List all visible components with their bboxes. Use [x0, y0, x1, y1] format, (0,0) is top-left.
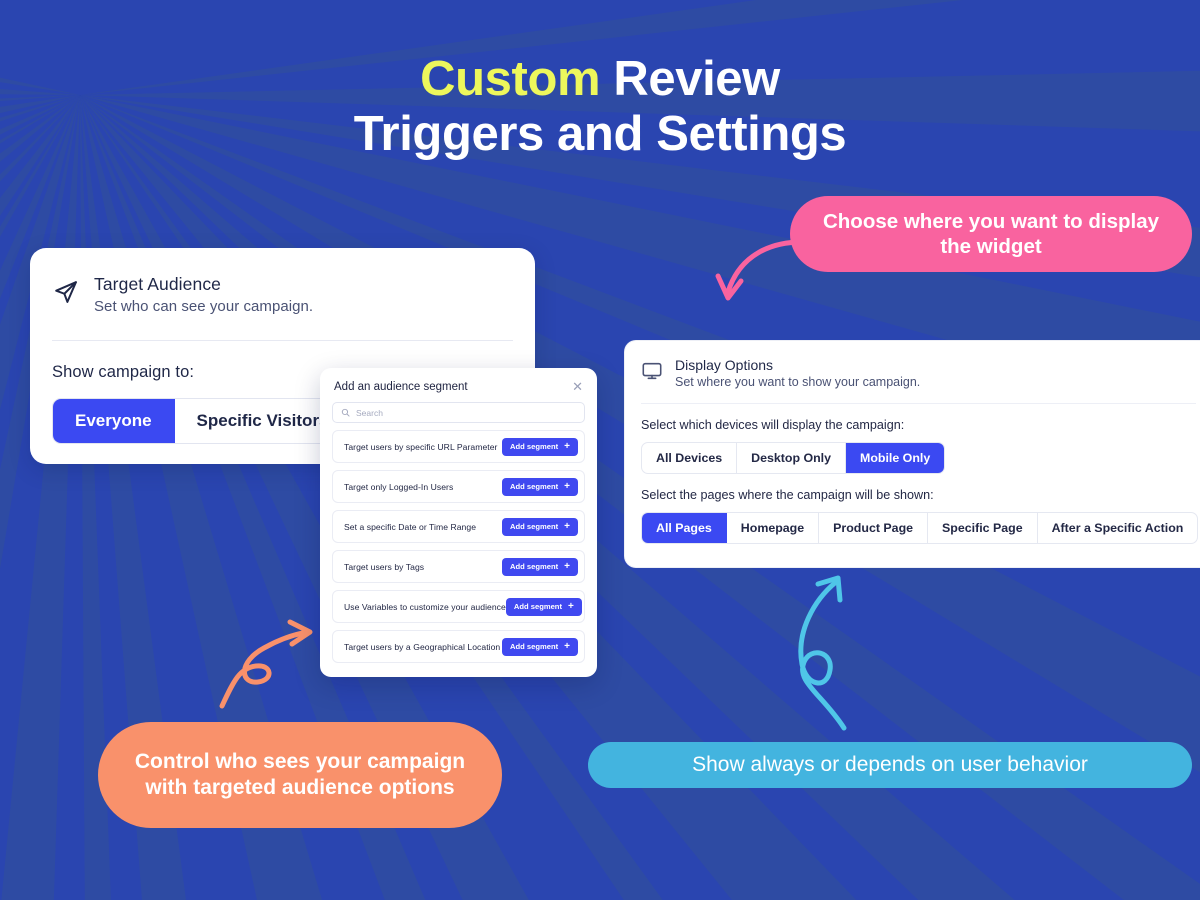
- title-line-1: Custom Review: [0, 52, 1200, 107]
- add-segment-label: Add segment: [510, 522, 558, 531]
- add-segment-button[interactable]: Add segment +: [506, 598, 582, 616]
- page-option-after-a-specific-action[interactable]: After a Specific Action: [1038, 513, 1198, 543]
- dialog-title: Add an audience segment: [334, 381, 468, 393]
- list-item[interactable]: Target users by Tags Add segment +: [332, 550, 585, 583]
- target-audience-header: Target Audience Set who can see your cam…: [30, 248, 535, 332]
- close-icon[interactable]: ✕: [570, 380, 585, 393]
- plus-icon: +: [564, 482, 570, 492]
- add-segment-button[interactable]: Add segment +: [502, 558, 578, 576]
- title-accent-word: Custom: [420, 52, 600, 106]
- display-options-card: Display Options Set where you want to sh…: [624, 340, 1200, 568]
- callout-teal: Show always or depends on user behavior: [588, 742, 1192, 788]
- segment-label: Target users by a Geographical Location: [344, 642, 500, 652]
- plus-icon: +: [568, 602, 574, 612]
- list-item[interactable]: Target only Logged-In Users Add segment …: [332, 470, 585, 503]
- add-segment-label: Add segment: [510, 442, 558, 451]
- poster-canvas: Custom Review Triggers and Settings Targ…: [0, 0, 1200, 900]
- title-line-1-rest: Review: [613, 52, 779, 106]
- list-item[interactable]: Use Variables to customize your audience…: [332, 590, 585, 623]
- list-item[interactable]: Target users by specific URL Parameter A…: [332, 430, 585, 463]
- add-segment-label: Add segment: [510, 642, 558, 651]
- callout-pink: Choose where you want to display the wid…: [790, 196, 1192, 272]
- add-audience-segment-dialog: Add an audience segment ✕ Search Target …: [320, 368, 597, 677]
- page-option-homepage[interactable]: Homepage: [727, 513, 819, 543]
- plus-icon: +: [564, 642, 570, 652]
- audience-scope-toggle[interactable]: Everyone Specific Visitors: [52, 398, 352, 444]
- page-title: Custom Review Triggers and Settings: [0, 52, 1200, 162]
- segment-label: Use Variables to customize your audience: [344, 602, 506, 612]
- device-option-all-devices[interactable]: All Devices: [642, 443, 737, 473]
- device-option-mobile-only[interactable]: Mobile Only: [846, 443, 944, 473]
- audience-option-everyone[interactable]: Everyone: [53, 399, 175, 443]
- plus-icon: +: [564, 522, 570, 532]
- callout-orange: Control who sees your campaign with targ…: [98, 722, 502, 828]
- add-segment-button[interactable]: Add segment +: [502, 638, 578, 656]
- display-options-subtitle: Set where you want to show your campaign…: [675, 375, 920, 389]
- monitor-icon: [641, 360, 663, 387]
- segment-label: Target users by specific URL Parameter: [344, 442, 497, 452]
- list-item[interactable]: Set a specific Date or Time Range Add se…: [332, 510, 585, 543]
- list-item[interactable]: Target users by a Geographical Location …: [332, 630, 585, 663]
- add-segment-label: Add segment: [514, 602, 562, 611]
- target-audience-title: Target Audience: [94, 274, 313, 295]
- segment-label: Target only Logged-In Users: [344, 482, 453, 492]
- pages-selector[interactable]: All Pages Homepage Product Page Specific…: [641, 512, 1198, 544]
- add-segment-button[interactable]: Add segment +: [502, 438, 578, 456]
- add-segment-label: Add segment: [510, 562, 558, 571]
- display-options-title: Display Options: [675, 357, 920, 373]
- segment-label: Set a specific Date or Time Range: [344, 522, 476, 532]
- plus-icon: +: [564, 442, 570, 452]
- page-option-specific-page[interactable]: Specific Page: [928, 513, 1038, 543]
- add-segment-button[interactable]: Add segment +: [502, 478, 578, 496]
- divider: [641, 403, 1196, 404]
- title-line-2: Triggers and Settings: [0, 107, 1200, 162]
- page-option-product-page[interactable]: Product Page: [819, 513, 928, 543]
- devices-label: Select which devices will display the ca…: [625, 418, 1200, 432]
- add-segment-label: Add segment: [510, 482, 558, 491]
- target-audience-subtitle: Set who can see your campaign.: [94, 298, 313, 315]
- device-selector[interactable]: All Devices Desktop Only Mobile Only: [641, 442, 945, 474]
- search-input[interactable]: Search: [332, 402, 585, 423]
- plus-icon: +: [564, 562, 570, 572]
- display-options-header: Display Options Set where you want to sh…: [625, 341, 1200, 389]
- navigation-arrow-icon: [52, 278, 80, 311]
- pages-label: Select the pages where the campaign will…: [625, 488, 1200, 502]
- search-placeholder: Search: [356, 408, 383, 418]
- add-segment-button[interactable]: Add segment +: [502, 518, 578, 536]
- segment-label: Target users by Tags: [344, 562, 424, 572]
- search-icon: [341, 404, 350, 422]
- device-option-desktop-only[interactable]: Desktop Only: [737, 443, 846, 473]
- page-option-all-pages[interactable]: All Pages: [642, 513, 727, 543]
- dialog-header: Add an audience segment ✕: [332, 378, 585, 393]
